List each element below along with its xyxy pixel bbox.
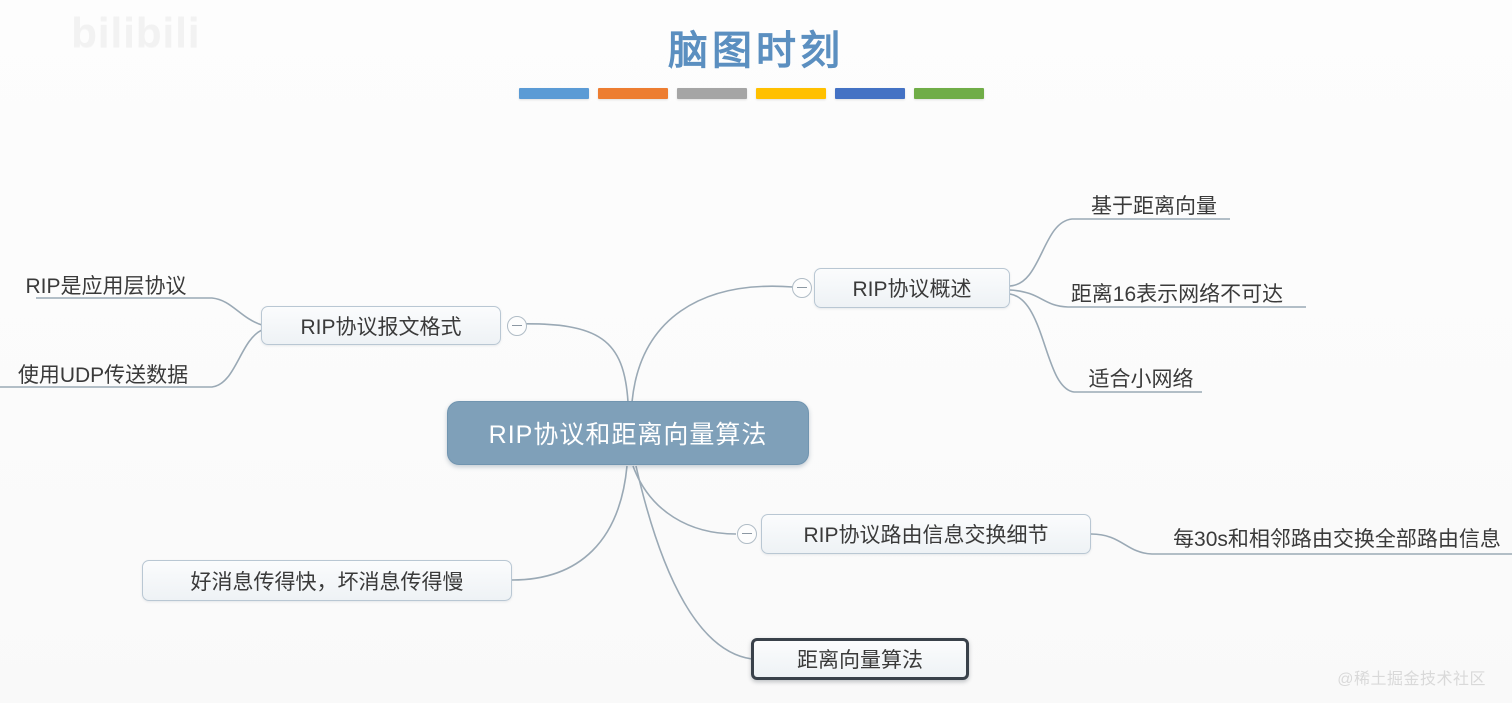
edge-gaishu-to-child1: [1010, 219, 1230, 286]
collapse-toggle-rip-message-format[interactable]: [507, 316, 527, 336]
leaf-rip-is-application-layer[interactable]: RIP是应用层协议: [16, 270, 196, 300]
leaf-exchange-every-30s-label: 每30s和相邻路由交换全部路由信息: [1173, 523, 1501, 553]
page-title: 脑图时刻: [0, 18, 1512, 76]
leaf-uses-udp[interactable]: 使用UDP传送数据: [10, 359, 196, 389]
node-rip-overview-label: RIP协议概述: [852, 273, 971, 303]
bar-yellow: [756, 88, 826, 99]
leaf-distance-vector-based-label: 基于距离向量: [1091, 190, 1217, 220]
edge-root-to-jiaohuan: [633, 466, 736, 534]
node-root-label: RIP协议和距离向量算法: [489, 415, 768, 451]
leaf-distance-16-unreachable-label: 距离16表示网络不可达: [1071, 278, 1283, 308]
corner-watermark: @稀土掘金技术社区: [1337, 665, 1486, 689]
bar-blue-dark: [835, 88, 905, 99]
leaf-distance-vector-based[interactable]: 基于距离向量: [1084, 190, 1224, 220]
node-rip-message-format-label: RIP协议报文格式: [300, 311, 461, 341]
leaf-uses-udp-label: 使用UDP传送数据: [18, 359, 188, 389]
mindmap-screenshot: bilibili 脑图时刻: [0, 0, 1512, 703]
collapse-toggle-rip-overview[interactable]: [792, 278, 812, 298]
leaf-distance-16-unreachable[interactable]: 距离16表示网络不可达: [1051, 278, 1303, 308]
node-route-exchange-details[interactable]: RIP协议路由信息交换细节: [761, 514, 1091, 554]
edge-root-to-baowen: [516, 324, 628, 402]
node-root[interactable]: RIP协议和距离向量算法: [447, 401, 809, 465]
edge-root-to-haoxiaoxi: [512, 466, 627, 580]
node-rip-overview[interactable]: RIP协议概述: [814, 268, 1010, 308]
leaf-exchange-every-30s[interactable]: 每30s和相邻路由交换全部路由信息: [1172, 523, 1502, 553]
bar-gray: [677, 88, 747, 99]
bar-green: [914, 88, 984, 99]
node-route-exchange-details-label: RIP协议路由信息交换细节: [803, 519, 1048, 549]
leaf-suitable-small-network-label: 适合小网络: [1089, 363, 1194, 393]
edge-root-to-suanfa: [636, 466, 752, 659]
node-distance-vector-algorithm-label: 距离向量算法: [797, 644, 923, 674]
leaf-rip-is-application-layer-label: RIP是应用层协议: [25, 270, 186, 300]
node-good-news-fast-bad-news-slow[interactable]: 好消息传得快，坏消息传得慢: [142, 560, 512, 601]
edge-root-to-gaishu: [632, 286, 793, 402]
node-good-news-fast-bad-news-slow-label: 好消息传得快，坏消息传得慢: [191, 566, 464, 596]
edge-baowen-to-child1: [36, 298, 262, 325]
color-bar-strip: [519, 88, 984, 100]
collapse-toggle-route-exchange-details[interactable]: [737, 524, 757, 544]
bar-blue-light: [519, 88, 589, 99]
node-rip-message-format[interactable]: RIP协议报文格式: [261, 306, 501, 345]
node-distance-vector-algorithm[interactable]: 距离向量算法: [751, 638, 969, 680]
bar-orange: [598, 88, 668, 99]
leaf-suitable-small-network[interactable]: 适合小网络: [1082, 363, 1200, 393]
